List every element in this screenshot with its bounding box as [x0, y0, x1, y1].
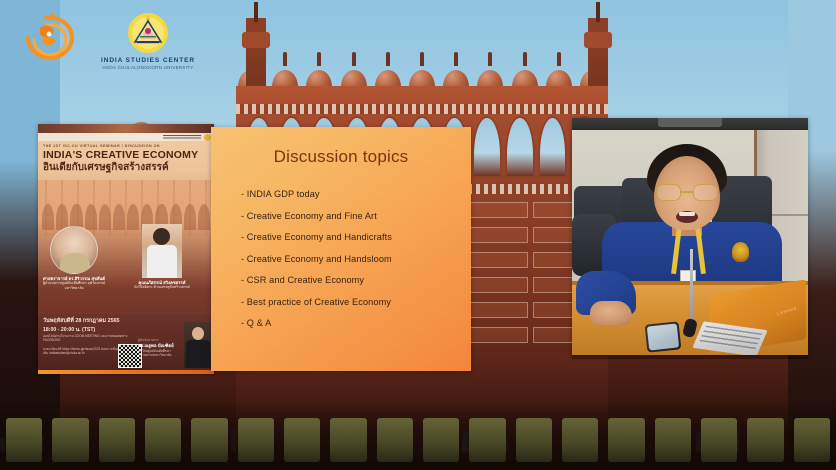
poster-bottom-strip: [38, 370, 214, 374]
slide-topic-list: - INDIA GDP today - Creative Economy and…: [241, 189, 457, 328]
gate-decorative-band: [236, 104, 608, 114]
isc-name-label: INDIA STUDIES CENTER: [96, 57, 200, 64]
poster-date: วันพฤหัสบดีที่ 28 กรกฎาคม 2565: [43, 318, 120, 325]
speaker-video-tile[interactable]: Lenovo: [572, 118, 808, 355]
slide-topic-item: - CSR and Creative Economy: [241, 275, 457, 285]
slide-topic-item: - Q & A: [241, 318, 457, 328]
video-tile-shadow: [572, 355, 808, 359]
poster-header-text-lines: [163, 135, 201, 140]
seminar-poster: THE 1ST ISC-CU VIRTUAL SEMINAR / DISCUSS…: [38, 124, 214, 374]
moderator-label: ผู้ดำเนินรายการ: [138, 338, 159, 342]
poster-venue: ออนไลน์ผ่านโปรแกรม ZOOM MEETING และถ่ายท…: [43, 334, 128, 343]
foreground-crowd-area: [0, 398, 836, 470]
poster-top-strip: [38, 124, 214, 133]
laptop-keys: [698, 326, 762, 353]
speaker-2-caption: คุณนภัสสรณ์ สวิงคชสรรค์ นักวิจัยอิสระ ด้…: [123, 280, 201, 290]
hedge-row: [0, 418, 836, 462]
slide-topic-item: - Best practice of Creative Economy: [241, 297, 457, 307]
poster-time: 18:00 - 20:00 น. (TST): [43, 326, 95, 334]
webinar-screen: INDIA STUDIES CENTER HSOA CHULALONGKORN …: [0, 0, 836, 470]
presentation-slide: Discussion topics - INDIA GDP today - Cr…: [211, 127, 471, 371]
slide-topic-item: - Creative Economy and Fine Art: [241, 211, 457, 221]
speaker-1-affiliation: ผู้อำนวยการศูนย์อินเดียศึกษา จุฬาลงกรณ์ม…: [43, 281, 105, 289]
india-studies-center-logo: INDIA STUDIES CENTER HSOA CHULALONGKORN …: [96, 10, 200, 72]
poster-speaker-1: ศาสตราจารย์ ดร.สิริวรรณ สุขสันต์ ผู้อำนว…: [50, 226, 113, 290]
india-studies-center-emblem: [125, 10, 171, 56]
poster-speaker-2: คุณนภัสสรณ์ สวิงคชสรรค์ นักวิจัยอิสระ ด้…: [142, 224, 201, 290]
isc-subtitle-label: HSOA CHULALONGKORN UNIVERSITY: [96, 65, 200, 70]
slide-topic-item: - Creative Economy and Handicrafts: [241, 232, 457, 242]
slide-topic-item: - INDIA GDP today: [241, 189, 457, 199]
blazer-crest-icon: [732, 242, 749, 262]
poster-registration: ลงทะเบียนฟรี https://forms.gle/isccu2022…: [43, 347, 128, 356]
speaker-photo-female: [142, 224, 182, 278]
orange-swirl-logo: [18, 8, 80, 64]
poster-info-block: วันพฤหัสบดีที่ 28 กรกฎาคม 2565 18:00 - 2…: [38, 314, 214, 374]
speaker-photo-male: [50, 226, 98, 274]
speaker-2-affiliation: นักวิจัยอิสระ ด้านเศรษฐกิจสร้างสรรค์: [134, 285, 190, 289]
speaker-mouth: [676, 211, 698, 223]
poster-speakers: ศาสตราจารย์ ดร.สิริวรรณ สุขสันต์ ผู้อำนว…: [38, 224, 214, 312]
laptop-brand-label: Lenovo: [777, 305, 797, 317]
speaker-1-caption: ศาสตราจารย์ ดร.สิริวรรณ สุขสันต์ ผู้อำนว…: [38, 276, 113, 290]
slide-topic-item: - Creative Economy and Handsloom: [241, 254, 457, 264]
poster-title-thai: อินเดียกับเศรษฐกิจสร้างสรรค์: [43, 163, 210, 174]
smartphone: [645, 321, 682, 352]
poster-kicker: THE 1ST ISC-CU VIRTUAL SEMINAR / DISCUSS…: [43, 144, 209, 148]
slide-title: Discussion topics: [211, 147, 471, 167]
poster-title: INDIA'S CREATIVE ECONOMY: [43, 150, 210, 161]
poster-moderator: ผู้ดำเนินรายการ ดร.ณฐพล บัณฑิตย์ นักวิจั…: [138, 338, 182, 357]
moderator-photo: [184, 322, 212, 368]
poster-header-logo-icon: [204, 134, 211, 141]
moderator-affiliation: นักวิจัยศูนย์อินเดียศึกษา จุฬาลงกรณ์มหาว…: [138, 349, 171, 357]
poster-header-bar: [38, 133, 214, 141]
speaker-hand: [590, 301, 632, 325]
glasses-icon: [656, 184, 718, 201]
laptop: Lenovo: [698, 287, 806, 353]
ceiling-fixture: [572, 118, 808, 130]
